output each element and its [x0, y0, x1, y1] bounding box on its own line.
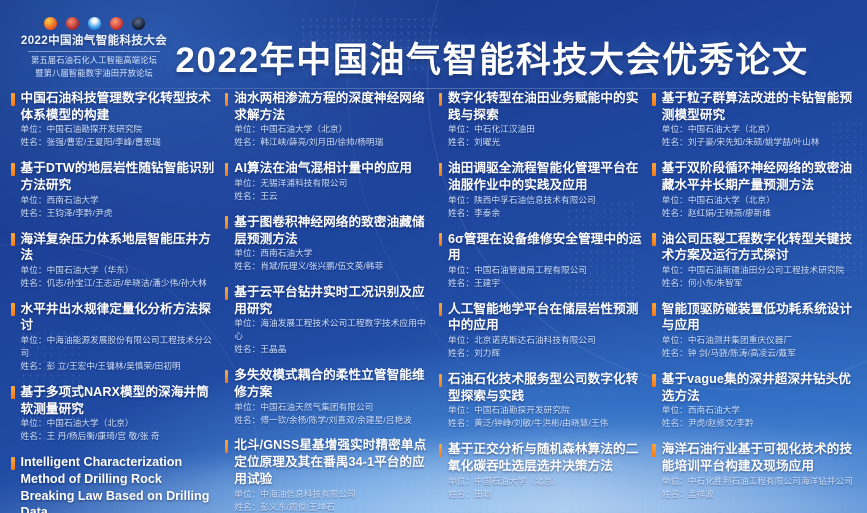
- paper-title-text: 基于云平台钻井实时工况识别及应用研究: [234, 284, 428, 317]
- paper-unit: 单位：中海油能源发展股份有限公司工程技术分公司: [21, 334, 215, 360]
- bullet-bar-icon: [11, 93, 15, 106]
- paper-title: 基于图卷积神经网络的致密油藏储层预测方法: [225, 214, 429, 247]
- paper-unit: 单位：北京诺克斯达石油科技有限公司: [448, 334, 642, 347]
- paper-unit: 单位：中国石油大学（北京）: [448, 475, 642, 488]
- bullet-bar-icon: [439, 93, 443, 106]
- bullet-bar-icon: [439, 303, 443, 316]
- paper-unit: 单位：中国石油大学（北京）: [662, 123, 856, 136]
- paper-title: 基于正交分析与随机森林算法的二氧化碳吞吐选层选井决策方法: [439, 441, 643, 474]
- paper-title-text: 6σ管理在设备维修安全管理中的运用: [448, 231, 642, 264]
- paper-title: 石油石化技术服务型公司数字化转型探索与实践: [439, 371, 643, 404]
- bullet-bar-icon: [225, 216, 229, 229]
- paper-unit: 单位：无锡洋浦科技有限公司: [234, 177, 428, 190]
- paper-entry[interactable]: 基于vague集的深井超深井钻头优选方法单位：西南石油大学姓名：尹虎/赵修文/李…: [652, 371, 856, 430]
- paper-entry[interactable]: AI算法在油气混相计量中的应用单位：无锡洋浦科技有限公司姓名：王云: [225, 160, 429, 203]
- paper-title-text: 基于DTW的地层岩性随钻智能识别方法研究: [21, 160, 215, 193]
- bullet-bar-icon: [652, 303, 656, 316]
- paper-title-text: 基于粒子群算法改进的卡钻智能预测模型研究: [662, 90, 856, 123]
- paper-authors: 姓名：王建宇: [448, 277, 642, 290]
- bullet-bar-icon: [225, 440, 229, 453]
- paper-authors: 姓名：赵红娟/王晓燕/廖新维: [662, 207, 856, 220]
- bullet-bar-icon: [11, 303, 15, 316]
- paper-entry[interactable]: 基于图卷积神经网络的致密油藏储层预测方法单位：西南石油大学姓名：肖斌/阮理义/张…: [225, 214, 429, 273]
- paper-authors: 姓名：王云: [234, 190, 428, 203]
- paper-unit: 单位：中国石油大学（华东）: [21, 264, 215, 277]
- bullet-bar-icon: [225, 163, 229, 176]
- paper-column-1: 中国石油科技管理数字化转型技术体系模型的构建单位：中国石油勘探开发研究院姓名：张…: [6, 90, 220, 510]
- paper-title-text: 基于双阶段循环神经网络的致密油藏水平井长期产量预测方法: [662, 160, 856, 193]
- paper-unit: 单位：中国石油大学（北京）: [662, 194, 856, 207]
- paper-title-text: 基于正交分析与随机森林算法的二氧化碳吞吐选层选井决策方法: [448, 441, 642, 474]
- paper-unit: 单位：中国石油勘探开发研究院: [21, 123, 215, 136]
- paper-title-text: 石油石化技术服务型公司数字化转型探索与实践: [448, 371, 642, 404]
- paper-title-text: 基于vague集的深井超深井钻头优选方法: [662, 371, 856, 404]
- paper-column-2: 油水两相渗流方程的深度神经网络求解方法单位：中国石油大学（北京）姓名：韩江峡/薛…: [220, 90, 434, 510]
- paper-entry[interactable]: 基于DTW的地层岩性随钻智能识别方法研究单位：西南石油大学姓名：王钧泽/李黔/尹…: [11, 160, 215, 219]
- paper-entry[interactable]: 北斗/GNSS星基增强实时精密单点定位原理及其在番禺34-1平台的应用试验单位：…: [225, 437, 429, 513]
- bullet-bar-icon: [11, 163, 15, 176]
- paper-title-text: 基于图卷积神经网络的致密油藏储层预测方法: [234, 214, 428, 247]
- paper-unit: 单位：中海油信息科技有限公司: [234, 488, 428, 501]
- paper-entry[interactable]: 6σ管理在设备维修安全管理中的运用单位：中国石油管道局工程有限公司姓名：王建宇: [439, 231, 643, 290]
- paper-authors: 姓名：韩江峡/薛亮/刘月田/徐帅/杨明瑞: [234, 136, 428, 149]
- paper-unit: 单位：海油发展工程技术公司工程数字技术应用中心: [234, 317, 428, 343]
- paper-unit: 单位：中国石油管道局工程有限公司: [448, 264, 642, 277]
- paper-entry[interactable]: 海洋石油行业基于可视化技术的技能培训平台构建及现场应用单位：中石化胜利石油工程有…: [652, 441, 856, 500]
- logo-subtitle-line-2: 暨第八届智能数字油田开放论坛: [35, 68, 153, 78]
- paper-entry[interactable]: Intelligent Characterization Method of D…: [11, 454, 215, 513]
- paper-title-text: 油田调驱全流程智能化管理平台在油服作业中的实践及应用: [448, 160, 642, 193]
- paper-title: 基于多项式NARX模型的深海井筒软测量研究: [11, 384, 215, 417]
- logo-subtitle-line-1: 第五届石油石化人工智能高端论坛: [31, 55, 157, 65]
- paper-title: 基于vague集的深井超深井钻头优选方法: [652, 371, 856, 404]
- paper-authors: 姓名：王钧泽/李黔/尹虎: [21, 207, 215, 220]
- bullet-bar-icon: [439, 374, 443, 387]
- paper-title: 6σ管理在设备维修安全管理中的运用: [439, 231, 643, 264]
- paper-authors: 姓名：刘力辉: [448, 347, 642, 360]
- paper-entry[interactable]: 多失效模式耦合的柔性立管智能维修方案单位：中国石油天然气集团有限公司姓名：傅一钦…: [225, 367, 429, 426]
- bullet-bar-icon: [439, 233, 443, 246]
- bullet-bar-icon: [652, 233, 656, 246]
- paper-entry[interactable]: 基于云平台钻井实时工况识别及应用研究单位：海油发展工程技术公司工程数字技术应用中…: [225, 284, 429, 356]
- paper-authors: 姓名：尹虎/赵修文/李黔: [662, 417, 856, 430]
- paper-title: Intelligent Characterization Method of D…: [11, 454, 215, 513]
- paper-title-text: 海洋复杂压力体系地层智能压井方法: [21, 231, 215, 264]
- paper-entry[interactable]: 中国石油科技管理数字化转型技术体系模型的构建单位：中国石油勘探开发研究院姓名：张…: [11, 90, 215, 149]
- page-title: 2022年中国油气智能科技大会优秀论文: [182, 32, 802, 82]
- paper-unit: 单位：中石化胜利石油工程有限公司海洋钻井公司: [662, 475, 856, 488]
- paper-title-text: 油公司压裂工程数字化转型关键技术方案及运行方式探讨: [662, 231, 856, 264]
- paper-authors: 姓名：刘曜光: [448, 136, 642, 149]
- paper-title: 基于粒子群算法改进的卡钻智能预测模型研究: [652, 90, 856, 123]
- paper-column-3: 数字化转型在油田业务赋能中的实践与探索单位：中石化江汉油田姓名：刘曜光油田调驱全…: [434, 90, 648, 510]
- bullet-bar-icon: [11, 233, 15, 246]
- paper-column-4: 基于粒子群算法改进的卡钻智能预测模型研究单位：中国石油大学（北京）姓名：刘子豪/…: [647, 90, 861, 510]
- paper-entry[interactable]: 水平井出水规律定量化分析方法探讨单位：中海油能源发展股份有限公司工程技术分公司姓…: [11, 301, 215, 373]
- paper-title-text: 水平井出水规律定量化分析方法探讨: [21, 301, 215, 334]
- logo-badge-row: [44, 16, 145, 30]
- paper-authors: 姓名：刘子豪/宋先知/朱硕/姚学喆/叶山林: [662, 136, 856, 149]
- paper-entry[interactable]: 基于正交分析与随机森林算法的二氧化碳吞吐选层选井决策方法单位：中国石油大学（北京…: [439, 441, 643, 500]
- badge-red2-icon: [110, 17, 123, 30]
- paper-authors: 姓名：黄泛/钟峥/刘敏/牛洪彬/由晓慧/王伟: [448, 417, 642, 430]
- bullet-bar-icon: [652, 93, 656, 106]
- bullet-bar-icon: [439, 444, 443, 457]
- paper-entry[interactable]: 油田调驱全流程智能化管理平台在油服作业中的实践及应用单位：陕西中孚石油信息技术有…: [439, 160, 643, 219]
- paper-title: 海洋复杂压力体系地层智能压井方法: [11, 231, 215, 264]
- paper-unit: 单位：中国石油新疆油田分公司工程技术研究院: [662, 264, 856, 277]
- paper-entry[interactable]: 数字化转型在油田业务赋能中的实践与探索单位：中石化江汉油田姓名：刘曜光: [439, 90, 643, 149]
- paper-title-text: 中国石油科技管理数字化转型技术体系模型的构建: [21, 90, 215, 123]
- paper-title-text: 北斗/GNSS星基增强实时精密单点定位原理及其在番禺34-1平台的应用试验: [234, 437, 428, 487]
- paper-title-text: AI算法在油气混相计量中的应用: [234, 160, 428, 177]
- paper-authors: 姓名：彭义东/周俊/王坤石: [234, 501, 428, 513]
- paper-authors: 姓名：李泰余: [448, 207, 642, 220]
- header-divider: [0, 88, 867, 89]
- paper-authors: 姓名：钟 剑/马骁/陈涛/高凌云/戴军: [662, 347, 856, 360]
- paper-title: 基于云平台钻井实时工况识别及应用研究: [225, 284, 429, 317]
- paper-title: AI算法在油气混相计量中的应用: [225, 160, 429, 177]
- paper-title: 油田调驱全流程智能化管理平台在油服作业中的实践及应用: [439, 160, 643, 193]
- paper-entry[interactable]: 石油石化技术服务型公司数字化转型探索与实践单位：中国石油勘探开发研究院姓名：黄泛…: [439, 371, 643, 430]
- paper-title: 水平井出水规律定量化分析方法探讨: [11, 301, 215, 334]
- paper-title: 数字化转型在油田业务赋能中的实践与探索: [439, 90, 643, 123]
- paper-title-text: 多失效模式耦合的柔性立管智能维修方案: [234, 367, 428, 400]
- paper-title: 基于双阶段循环神经网络的致密油藏水平井长期产量预测方法: [652, 160, 856, 193]
- paper-unit: 单位：陕西中孚石油信息技术有限公司: [448, 194, 642, 207]
- paper-title: 油公司压裂工程数字化转型关键技术方案及运行方式探讨: [652, 231, 856, 264]
- badge-orange-icon: [44, 17, 57, 30]
- paper-unit: 单位：中国石油大学（北京）: [21, 417, 215, 430]
- paper-title-text: 数字化转型在油田业务赋能中的实践与探索: [448, 90, 642, 123]
- badge-red-icon: [66, 17, 79, 30]
- paper-unit: 单位：中国石油勘探开发研究院: [448, 404, 642, 417]
- paper-title: 海洋石油行业基于可视化技术的技能培训平台构建及现场应用: [652, 441, 856, 474]
- badge-dark-icon: [132, 17, 145, 30]
- paper-title-text: 人工智能地学平台在储层岩性预测中的应用: [448, 301, 642, 334]
- paper-entry[interactable]: 基于双阶段循环神经网络的致密油藏水平井长期产量预测方法单位：中国石油大学（北京）…: [652, 160, 856, 219]
- paper-entry[interactable]: 油水两相渗流方程的深度神经网络求解方法单位：中国石油大学（北京）姓名：韩江峡/薛…: [225, 90, 429, 149]
- paper-authors: 姓名：肖斌/阮理义/张兴鹏/伍文英/韩菲: [234, 260, 428, 273]
- bullet-bar-icon: [11, 386, 15, 399]
- paper-entry[interactable]: 基于粒子群算法改进的卡钻智能预测模型研究单位：中国石油大学（北京）姓名：刘子豪/…: [652, 90, 856, 149]
- bullet-bar-icon: [652, 163, 656, 176]
- bullet-bar-icon: [652, 374, 656, 387]
- paper-title: 中国石油科技管理数字化转型技术体系模型的构建: [11, 90, 215, 123]
- paper-authors: 姓名：王 丹/杨后衡/康琦/宫 敬/张 奇: [21, 430, 215, 443]
- paper-title: 北斗/GNSS星基增强实时精密单点定位原理及其在番禺34-1平台的应用试验: [225, 437, 429, 487]
- paper-entry[interactable]: 海洋复杂压力体系地层智能压井方法单位：中国石油大学（华东）姓名：仉志/孙宝江/王…: [11, 231, 215, 290]
- paper-title-text: 油水两相渗流方程的深度神经网络求解方法: [234, 90, 428, 123]
- bullet-bar-icon: [652, 444, 656, 457]
- paper-authors: 姓名：傅一钦/余杨/陈学/刘喜双/余建星/吕艳波: [234, 414, 428, 427]
- paper-unit: 单位：中石油测井集团重庆仪器厂: [662, 334, 856, 347]
- paper-unit: 单位：中国石油天然气集团有限公司: [234, 401, 428, 414]
- paper-entry[interactable]: 基于多项式NARX模型的深海井筒软测量研究单位：中国石油大学（北京）姓名：王 丹…: [11, 384, 215, 443]
- paper-authors: 姓名：张强/曹宏/王夏阳/李峰/曹思瑞: [21, 136, 215, 149]
- paper-authors: 姓名：彭 立/王宏中/王镛林/吴慎荣/田初明: [21, 360, 215, 373]
- paper-title: 智能顶驱防碰装置低功耗系统设计与应用: [652, 301, 856, 334]
- paper-authors: 姓名：仉志/孙宝江/王志远/牟晓洁/潘少伟/孙大林: [21, 277, 215, 290]
- paper-columns: 中国石油科技管理数字化转型技术体系模型的构建单位：中国石油勘探开发研究院姓名：张…: [0, 90, 867, 510]
- paper-unit: 单位：西南石油大学: [21, 194, 215, 207]
- paper-title-text: 智能顶驱防碰装置低功耗系统设计与应用: [662, 301, 856, 334]
- paper-title-text: Intelligent Characterization Method of D…: [21, 454, 215, 513]
- bullet-bar-icon: [225, 287, 229, 300]
- paper-unit: 单位：中石化江汉油田: [448, 123, 642, 136]
- paper-authors: 姓名：王晶晶: [234, 343, 428, 356]
- logo-divider: [28, 51, 160, 52]
- paper-title-text: 海洋石油行业基于可视化技术的技能培训平台构建及现场应用: [662, 441, 856, 474]
- paper-unit: 单位：西南石油大学: [662, 404, 856, 417]
- paper-title: 基于DTW的地层岩性随钻智能识别方法研究: [11, 160, 215, 193]
- paper-authors: 姓名：孟祥波: [662, 488, 856, 501]
- paper-title: 多失效模式耦合的柔性立管智能维修方案: [225, 367, 429, 400]
- paper-title: 油水两相渗流方程的深度神经网络求解方法: [225, 90, 429, 123]
- poster-header: 2022中国油气智能科技大会 第五届石油石化人工智能高端论坛 暨第八届智能数字油…: [0, 0, 867, 88]
- paper-entry[interactable]: 油公司压裂工程数字化转型关键技术方案及运行方式探讨单位：中国石油新疆油田分公司工…: [652, 231, 856, 290]
- bullet-bar-icon: [439, 163, 443, 176]
- bullet-bar-icon: [225, 93, 229, 106]
- paper-authors: 姓名：田聪: [448, 488, 642, 501]
- paper-entry[interactable]: 人工智能地学平台在储层岩性预测中的应用单位：北京诺克斯达石油科技有限公司姓名：刘…: [439, 301, 643, 360]
- paper-authors: 姓名：何小东/朱智军: [662, 277, 856, 290]
- conference-logo: 2022中国油气智能科技大会 第五届石油石化人工智能高端论坛 暨第八届智能数字油…: [20, 16, 168, 78]
- badge-blue-icon: [88, 17, 101, 30]
- paper-title: 人工智能地学平台在储层岩性预测中的应用: [439, 301, 643, 334]
- bullet-bar-icon: [225, 370, 229, 383]
- paper-entry[interactable]: 智能顶驱防碰装置低功耗系统设计与应用单位：中石油测井集团重庆仪器厂姓名：钟 剑/…: [652, 301, 856, 360]
- paper-unit: 单位：西南石油大学: [234, 247, 428, 260]
- logo-title: 2022中国油气智能科技大会: [21, 32, 167, 48]
- bullet-bar-icon: [11, 457, 15, 470]
- paper-unit: 单位：中国石油大学（北京）: [234, 123, 428, 136]
- paper-title-text: 基于多项式NARX模型的深海井筒软测量研究: [21, 384, 215, 417]
